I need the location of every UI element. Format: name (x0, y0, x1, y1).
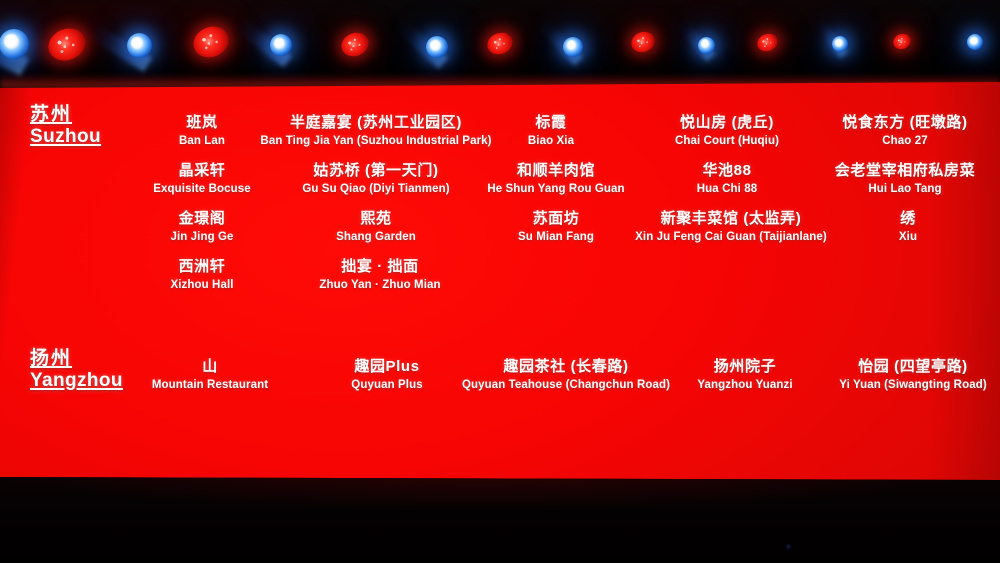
restaurant-name-cn: 和顺羊肉馆 (487, 162, 624, 181)
restaurant-name-en: Zhuo Yan · Zhuo Mian (319, 278, 440, 293)
restaurant-name-en: Exquisite Bocuse (153, 182, 250, 197)
spotlight-blue-1-icon (0, 29, 29, 59)
restaurant-entry: 扬州院子Yangzhou Yuanzi (697, 358, 792, 393)
stage-floor (0, 474, 1000, 563)
restaurant-name-en: Chai Court (Huqiu) (675, 134, 779, 149)
city-label-suzhou-cn: 苏州 (30, 104, 101, 126)
restaurant-name-cn: 山 (152, 358, 268, 377)
restaurant-name-en: Yangzhou Yuanzi (697, 378, 792, 393)
restaurant-name-cn: 熙苑 (336, 210, 416, 229)
restaurant-name-cn: 悦山房 (虎丘) (675, 114, 779, 133)
spotlight-blue-5-icon (563, 37, 583, 57)
restaurant-name-cn: 标霞 (528, 114, 574, 133)
led-red-1-icon (44, 23, 91, 66)
restaurant-name-en: Hua Chi 88 (697, 182, 757, 197)
restaurant-entry: 拙宴 · 拙面Zhuo Yan · Zhuo Mian (319, 258, 440, 293)
restaurant-name-cn: 姑苏桥 (第一天门) (302, 162, 449, 181)
restaurant-name-en: Biao Xia (528, 134, 574, 149)
city-label-yangzhou-cn: 扬州 (30, 348, 123, 370)
restaurant-name-cn: 拙宴 · 拙面 (319, 258, 440, 277)
restaurant-name-cn: 西洲轩 (170, 258, 233, 277)
led-red-6-icon (754, 30, 780, 54)
restaurant-entry: 苏面坊Su Mian Fang (518, 210, 594, 245)
restaurant-name-cn: 华池88 (697, 162, 757, 181)
screen-content: 苏州 Suzhou 班岚Ban Lan半庭嘉宴 (苏州工业园区)Ban Ting… (0, 80, 1000, 481)
restaurant-name-en: He Shun Yang Rou Guan (487, 182, 624, 197)
restaurant-entry: 趣园PlusQuyuan Plus (351, 358, 422, 393)
restaurant-entry: 会老堂宰相府私房菜Hui Lao Tang (835, 162, 975, 197)
spotlight-blue-7-icon (832, 36, 848, 52)
restaurant-name-cn: 绣 (899, 210, 917, 229)
restaurant-name-en: Hui Lao Tang (835, 182, 975, 197)
restaurant-entry: 绣Xiu (899, 210, 917, 245)
restaurant-name-en: Mountain Restaurant (152, 378, 268, 393)
restaurant-name-en: Xiu (899, 230, 917, 245)
restaurant-entry: 山Mountain Restaurant (152, 358, 268, 393)
restaurant-entry: 标霞Biao Xia (528, 114, 574, 149)
restaurant-entry: 晶采轩Exquisite Bocuse (153, 162, 250, 197)
restaurant-name-en: Yi Yuan (Siwangting Road) (839, 378, 987, 393)
presentation-stage: 苏州 Suzhou 班岚Ban Lan半庭嘉宴 (苏州工业园区)Ban Ting… (0, 0, 1000, 563)
restaurant-name-en: Chao 27 (842, 134, 967, 149)
restaurant-name-cn: 半庭嘉宴 (苏州工业园区) (260, 114, 491, 133)
restaurant-name-en: Xizhou Hall (170, 278, 233, 293)
restaurant-name-cn: 班岚 (179, 114, 225, 133)
city-label-suzhou-en: Suzhou (30, 126, 101, 148)
restaurant-entry: 怡园 (四望亭路)Yi Yuan (Siwangting Road) (839, 358, 987, 393)
restaurant-name-en: Ban Ting Jia Yan (Suzhou Industrial Park… (260, 134, 491, 149)
restaurant-name-en: Su Mian Fang (518, 230, 594, 245)
restaurant-entry: 新聚丰菜馆 (太监弄)Xin Ju Feng Cai Guan (Taijian… (635, 210, 827, 245)
restaurant-name-cn: 晶采轩 (153, 162, 250, 181)
restaurant-name-en: Quyuan Plus (351, 378, 422, 393)
restaurant-entry: 悦食东方 (旺墩路)Chao 27 (842, 114, 967, 149)
city-label-suzhou: 苏州 Suzhou (30, 104, 101, 148)
ceiling-lighting-rig (0, 0, 1000, 92)
restaurant-entry: 和顺羊肉馆He Shun Yang Rou Guan (487, 162, 624, 197)
restaurant-name-en: Jin Jing Ge (170, 230, 233, 245)
restaurant-name-cn: 金璟阁 (170, 210, 233, 229)
restaurant-name-cn: 趣园Plus (351, 358, 422, 377)
restaurant-name-en: Xin Ju Feng Cai Guan (Taijianlane) (635, 230, 827, 245)
spotlight-blue-8-icon (967, 34, 983, 50)
restaurant-entry: 姑苏桥 (第一天门)Gu Su Qiao (Diyi Tianmen) (302, 162, 449, 197)
restaurant-name-cn: 会老堂宰相府私房菜 (835, 162, 975, 181)
led-red-2-icon (189, 21, 233, 62)
spotlight-blue-2-icon (127, 33, 152, 58)
spotlight-blue-3-icon (270, 34, 292, 56)
led-screen: 苏州 Suzhou 班岚Ban Lan半庭嘉宴 (苏州工业园区)Ban Ting… (0, 80, 1000, 481)
restaurant-entry: 华池88Hua Chi 88 (697, 162, 757, 197)
spotlight-blue-6-icon (698, 37, 715, 54)
spotlight-blue-4-icon (426, 36, 448, 58)
led-red-4-icon (484, 29, 516, 59)
restaurant-entry: 熙苑Shang Garden (336, 210, 416, 245)
city-label-yangzhou-en: Yangzhou (30, 370, 123, 392)
restaurant-entry: 金璟阁Jin Jing Ge (170, 210, 233, 245)
restaurant-name-cn: 扬州院子 (697, 358, 792, 377)
city-label-yangzhou: 扬州 Yangzhou (30, 348, 123, 392)
restaurant-entry: 悦山房 (虎丘)Chai Court (Huqiu) (675, 114, 779, 149)
restaurant-name-cn: 趣园茶社 (长春路) (462, 358, 670, 377)
restaurant-name-cn: 苏面坊 (518, 210, 594, 229)
restaurant-name-en: Quyuan Teahouse (Changchun Road) (462, 378, 670, 393)
restaurant-entry: 西洲轩Xizhou Hall (170, 258, 233, 293)
restaurant-name-cn: 新聚丰菜馆 (太监弄) (635, 210, 827, 229)
restaurant-name-cn: 怡园 (四望亭路) (839, 358, 987, 377)
floor-light-speck (787, 545, 790, 548)
restaurant-entry: 趣园茶社 (长春路)Quyuan Teahouse (Changchun Roa… (462, 358, 670, 393)
restaurant-name-en: Ban Lan (179, 134, 225, 149)
restaurant-name-en: Gu Su Qiao (Diyi Tianmen) (302, 182, 449, 197)
restaurant-entry: 班岚Ban Lan (179, 114, 225, 149)
restaurant-entry: 半庭嘉宴 (苏州工业园区)Ban Ting Jia Yan (Suzhou In… (260, 114, 491, 149)
led-red-3-icon (338, 29, 373, 61)
led-red-7-icon (891, 31, 913, 51)
restaurant-name-en: Shang Garden (336, 230, 416, 245)
restaurant-name-cn: 悦食东方 (旺墩路) (842, 114, 967, 133)
led-red-5-icon (628, 28, 658, 55)
